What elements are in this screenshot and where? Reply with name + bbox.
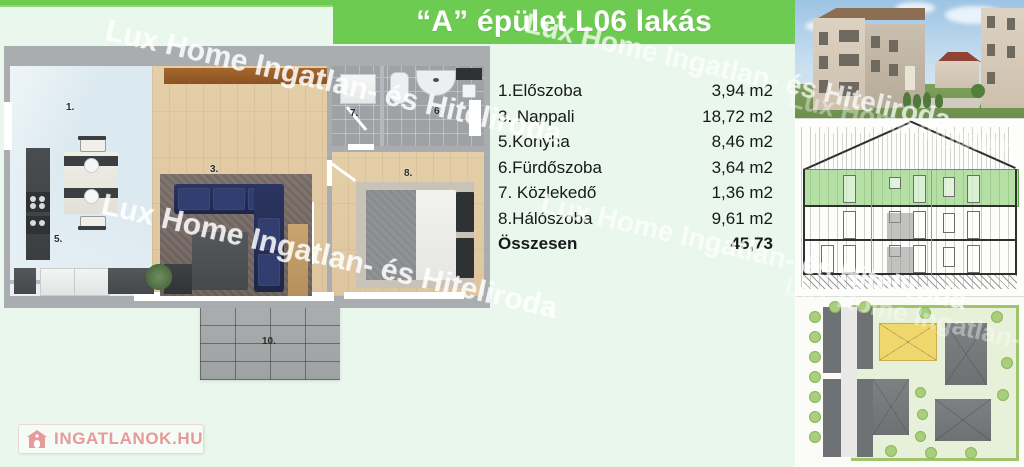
parking-row-2 <box>857 307 873 369</box>
dining-plate-1 <box>84 158 99 173</box>
site-tree <box>915 387 926 398</box>
roof-hip-lines <box>873 379 909 435</box>
access-road <box>841 307 857 457</box>
section-door <box>913 245 926 273</box>
room-label-bathroom: 6. <box>434 106 442 117</box>
door-opening-hall <box>348 144 374 150</box>
window <box>871 36 880 48</box>
site-tree <box>809 331 821 343</box>
room-area: 9,61 m2 <box>712 206 773 232</box>
site-tree <box>809 431 821 443</box>
site-tree <box>925 447 937 459</box>
ingatlanok-logo[interactable]: INGATLANOK.HU <box>18 424 204 454</box>
room-name: 7. Közlekedő <box>498 180 596 206</box>
room-row: 6.Fürdőszoba 3,64 m2 <box>498 155 773 181</box>
washer-door-icon <box>462 84 476 98</box>
section-door <box>967 245 980 273</box>
sofa-cushion <box>213 188 245 210</box>
room-area: 8,46 m2 <box>712 129 773 155</box>
hob-burner-icon <box>39 196 45 202</box>
section-door <box>913 175 926 203</box>
balcony-recess <box>839 54 859 66</box>
window-bathroom <box>469 100 481 136</box>
shrub <box>935 94 943 108</box>
section-window <box>943 247 955 267</box>
site-tree <box>991 311 1003 323</box>
section-door <box>967 175 980 203</box>
wall-inner-b <box>931 169 932 275</box>
site-tree <box>919 307 931 319</box>
section-door <box>843 211 856 239</box>
roof-hip-lines <box>935 399 991 441</box>
tree <box>971 84 985 98</box>
stair-run-1 <box>887 247 913 273</box>
sofa-cushion <box>258 254 280 286</box>
kitchen-cabinet-white-2 <box>74 268 110 296</box>
sofa-chaise <box>254 184 284 292</box>
site-tree <box>809 311 821 323</box>
room-label-hall: 7. <box>350 108 358 119</box>
shrub <box>913 94 921 108</box>
dining-chair-back-2 <box>78 226 106 230</box>
wood-beam <box>164 68 327 84</box>
slab-line-2 <box>803 205 1017 207</box>
coffee-table <box>192 232 248 290</box>
parking-row-3 <box>823 379 841 457</box>
site-building-3 <box>873 379 909 435</box>
slab-line-1 <box>803 239 1017 241</box>
sofa-cushion <box>258 218 280 250</box>
section-window <box>943 177 955 197</box>
site-tree <box>1001 357 1013 369</box>
site-hedge-right <box>1016 305 1019 461</box>
nightstand-2 <box>456 238 474 278</box>
total-area: 45,73 <box>730 231 773 257</box>
hob-burner-icon <box>30 196 36 202</box>
hob-burner-icon <box>30 220 36 226</box>
room-area: 18,72 m2 <box>702 104 773 130</box>
facade-front <box>935 61 979 88</box>
nightstand-1 <box>456 192 474 232</box>
shower-tray <box>340 74 376 104</box>
window <box>1007 46 1015 58</box>
building-background <box>931 52 983 88</box>
section-door <box>821 245 834 273</box>
site-tree <box>997 389 1009 401</box>
window <box>871 60 880 72</box>
window <box>819 32 828 45</box>
site-tree <box>915 431 926 442</box>
shrub <box>923 92 931 108</box>
dining-chair-1 <box>80 138 106 152</box>
room-name: 6.Fürdőszoba <box>498 155 602 181</box>
entry-door-opening <box>4 102 12 150</box>
poster-canvas: “A” épület L06 lakás <box>0 0 1024 467</box>
highlighted-floor-green <box>803 169 1019 207</box>
highlighted-building-yellow <box>879 323 937 361</box>
wardrobe <box>288 224 308 296</box>
kitchen-hob-top <box>26 192 50 212</box>
section-window <box>889 177 901 189</box>
kitchen-hob-bottom <box>26 216 50 234</box>
balcony-recess <box>839 82 859 96</box>
window <box>987 16 995 28</box>
room-name: 8.Hálószoba <box>498 206 593 232</box>
site-tree <box>917 409 928 420</box>
roof-hip-lines <box>880 324 936 360</box>
room-label-entry: 1. <box>66 102 74 113</box>
toilet-icon <box>390 72 409 104</box>
room-label-terrace: 10. <box>262 336 276 347</box>
site-hedge-top <box>851 305 1019 308</box>
site-hedge-bottom <box>851 458 1019 461</box>
window <box>987 44 995 56</box>
room-row: 7. Közlekedő 1,36 m2 <box>498 180 773 206</box>
plant-icon <box>146 264 172 290</box>
hob-burner-icon <box>39 220 45 226</box>
room-area: 3,94 m2 <box>712 78 773 104</box>
dining-plate-2 <box>84 189 99 204</box>
site-tree <box>809 391 821 403</box>
section-door <box>843 245 856 273</box>
floor-plan: 5. 1. 3. 7. <box>4 46 490 308</box>
entrance-door <box>905 66 915 90</box>
right-image-rail <box>795 0 1024 467</box>
wall-inner-a <box>871 169 872 275</box>
sink-drain-icon <box>433 78 439 82</box>
room-label-bedroom: 8. <box>404 168 412 179</box>
site-layout-plan <box>795 296 1024 467</box>
site-tree <box>859 301 871 313</box>
room-area: 3,64 m2 <box>712 155 773 181</box>
room-row: 1.Előszoba 3,94 m2 <box>498 78 773 104</box>
terrace: 10. <box>200 308 340 380</box>
building-cross-section-drawing <box>795 118 1024 297</box>
window <box>1007 18 1015 30</box>
bedroom-window-opening <box>344 292 464 299</box>
site-tree <box>829 301 841 313</box>
wall-left <box>803 169 805 275</box>
room-name: 1.Előszoba <box>498 78 582 104</box>
wall-hall-bath-divider <box>380 66 384 146</box>
hob-burner-icon <box>30 203 36 209</box>
site-building-2 <box>945 323 987 385</box>
ground-hatch <box>803 275 1017 289</box>
site-tree <box>885 445 897 457</box>
hob-burner-icon <box>39 203 45 209</box>
washer-icon <box>456 68 482 80</box>
dining-chair-back-1 <box>78 136 106 140</box>
building-right <box>981 2 1024 108</box>
kitchen-cabinet-white-1 <box>40 268 76 296</box>
room-label-living: 3. <box>210 164 218 175</box>
balcony-recess <box>839 30 859 42</box>
window <box>987 72 995 84</box>
site-tree <box>809 371 821 383</box>
site-tree <box>809 351 821 363</box>
room-area: 1,36 m2 <box>712 180 773 206</box>
total-label: Összesen <box>498 231 577 257</box>
window <box>819 80 828 93</box>
building-render-photo <box>795 0 1024 118</box>
wall-right <box>1015 169 1017 275</box>
parking-row-4 <box>857 379 873 457</box>
section-window <box>943 213 955 233</box>
room-name: 5.Konyha <box>498 129 570 155</box>
house-icon <box>26 429 48 449</box>
total-row: Összesen 45,73 <box>498 231 773 257</box>
window <box>889 64 898 76</box>
page-title: “A” épület L06 lakás <box>416 5 712 39</box>
site-tree <box>809 411 821 423</box>
window <box>819 56 828 69</box>
section-door <box>843 175 856 203</box>
window <box>889 40 898 52</box>
room-area-list: 1.Előszoba 3,94 m2 3. Nappali 18,72 m2 5… <box>498 78 773 257</box>
site-building-4 <box>935 399 991 441</box>
logo-text: INGATLANOK.HU <box>54 429 203 449</box>
parking-row-1 <box>823 307 841 373</box>
room-row: 8.Hálószoba 9,61 m2 <box>498 206 773 232</box>
section-door <box>967 211 980 239</box>
bed-blanket <box>366 190 416 280</box>
site-tree <box>965 447 977 459</box>
title-banner: “A” épület L06 lakás <box>333 0 795 44</box>
room-row: 3. Nappali 18,72 m2 <box>498 104 773 130</box>
kitchen-lower-unit <box>14 268 36 294</box>
roof-hip-lines <box>945 323 987 385</box>
truss-hatch <box>815 133 1005 169</box>
stair-run-2 <box>887 213 913 239</box>
room-name: 3. Nappali <box>498 104 575 130</box>
room-row: 5.Konyha 8,46 m2 <box>498 129 773 155</box>
room-label-kitchen: 5. <box>54 234 62 245</box>
section-door <box>913 211 926 239</box>
shrub <box>903 92 911 108</box>
sofa-cushion <box>178 188 210 210</box>
